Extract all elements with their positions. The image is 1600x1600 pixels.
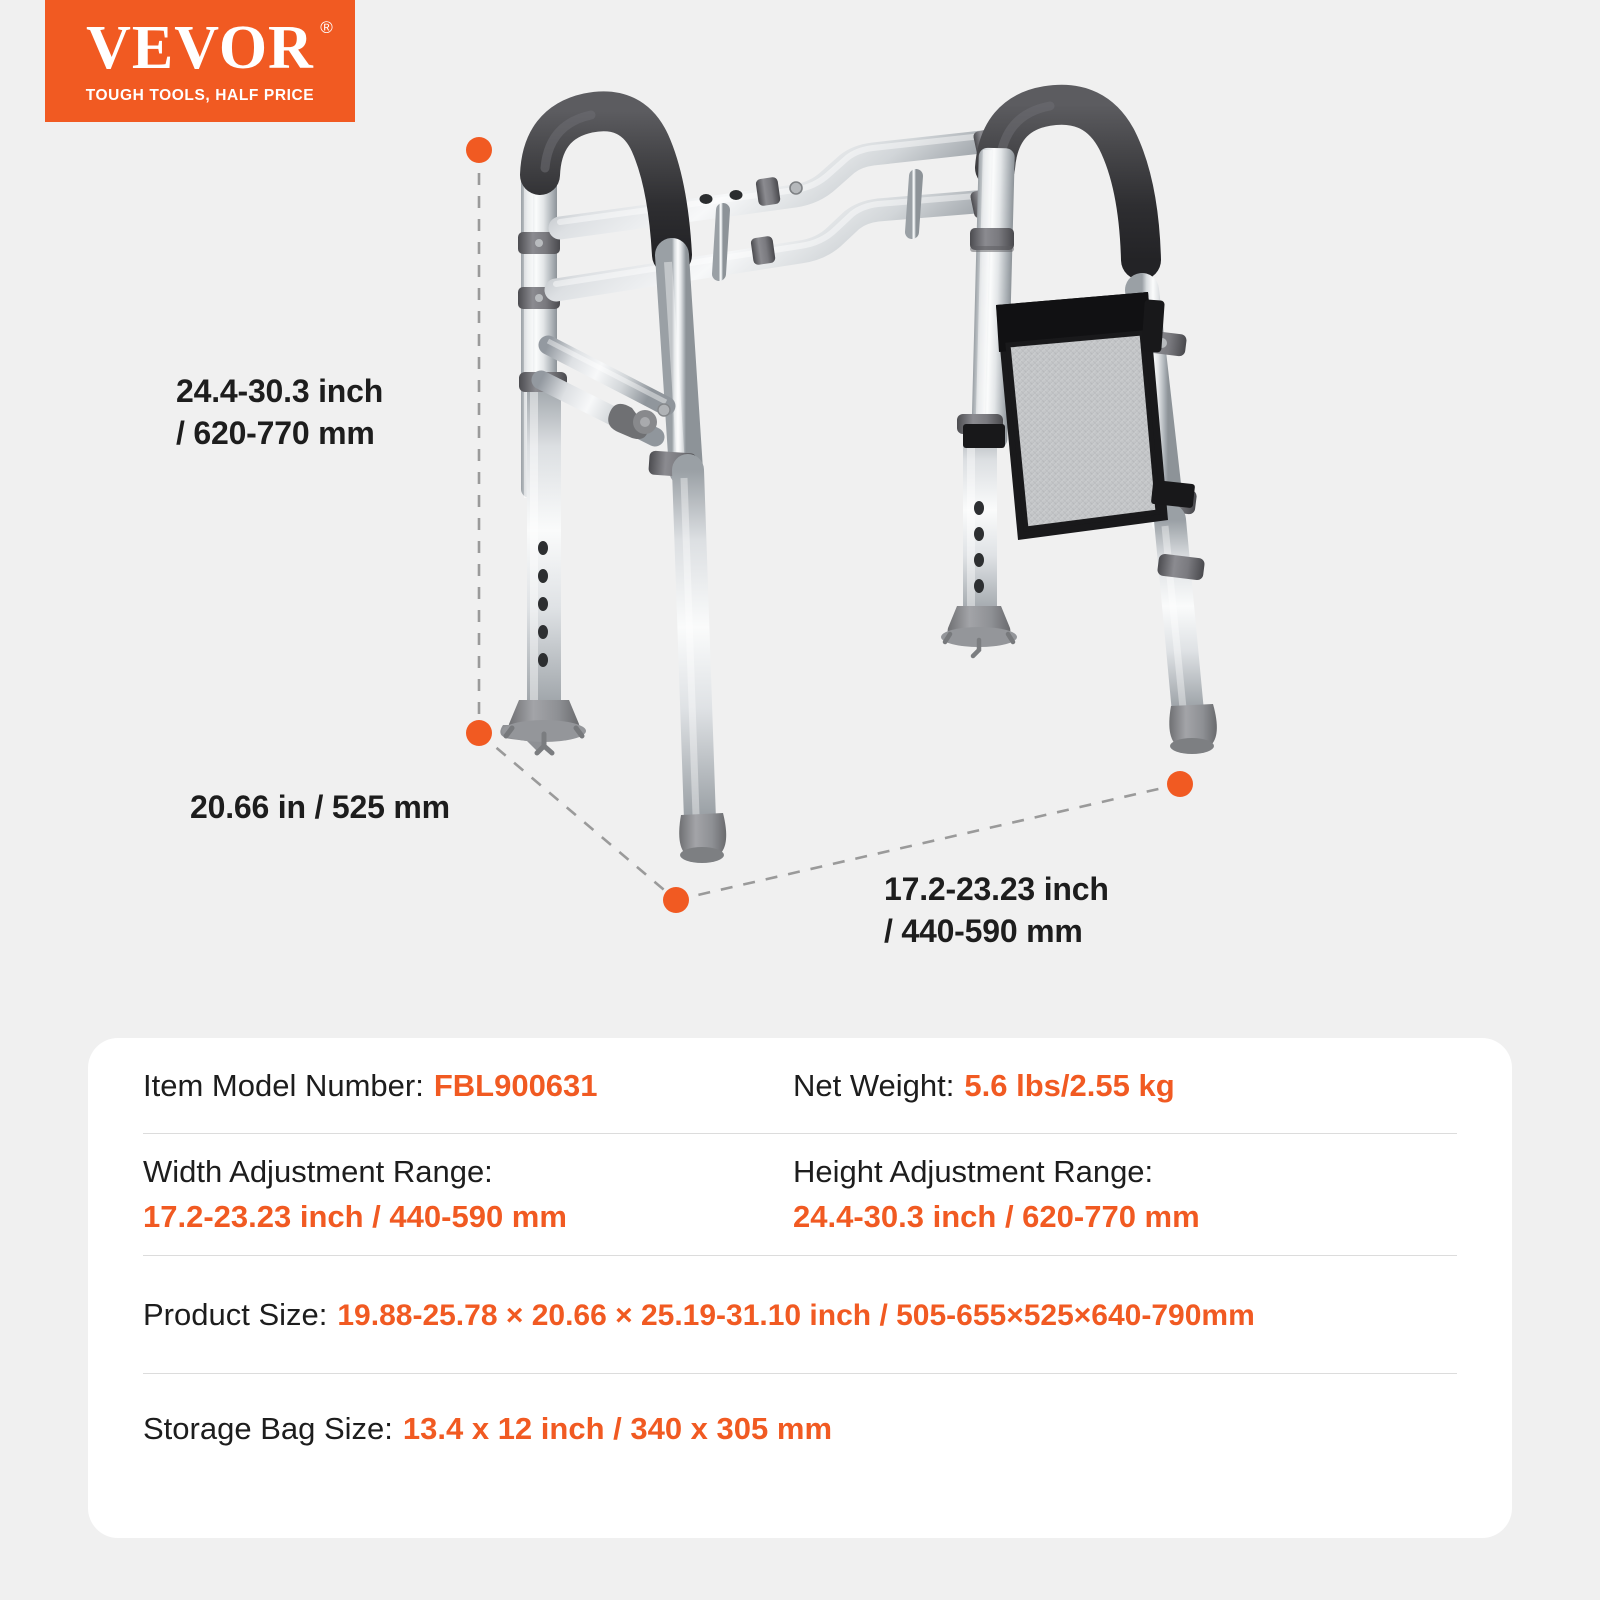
rear-left-leg (500, 168, 586, 753)
marker-top-left (466, 137, 492, 163)
upper-cross-frame (556, 128, 1000, 290)
marker-front-bottom (663, 887, 689, 913)
product-size-label: Product Size: (143, 1297, 327, 1333)
spec-row-bag-size: Storage Bag Size: 13.4 x 12 inch / 340 x… (143, 1374, 1457, 1484)
width-dimension-line1: 17.2-23.23 inch (884, 868, 1214, 910)
bag-mesh-panel (1008, 333, 1158, 529)
height-dimension-line2: / 620-770 mm (176, 412, 506, 454)
bag-size-label: Storage Bag Size: (143, 1411, 393, 1447)
width-dimension-line2: / 440-590 mm (884, 910, 1214, 952)
height-dimension-line1: 24.4-30.3 inch (176, 370, 506, 412)
marker-bottom-left (466, 720, 492, 746)
marker-right-bottom (1167, 771, 1193, 797)
rear-right-foot (941, 606, 1017, 656)
spec-item-height-range: Height Adjustment Range: 24.4-30.3 inch … (793, 1154, 1457, 1235)
width-range-label: Width Adjustment Range: (143, 1154, 793, 1190)
spec-row-product-size: Product Size: 19.88-25.78 × 20.66 × 25.1… (143, 1256, 1457, 1374)
model-label: Item Model Number: (143, 1068, 424, 1104)
product-illustration: 24.4-30.3 inch / 620-770 mm 20.66 in / 5… (0, 0, 1600, 1010)
walker-drawing (0, 0, 1600, 1010)
bag-right-strap (1151, 480, 1195, 508)
spec-row-adjustment-ranges: Width Adjustment Range: 17.2-23.23 inch … (143, 1134, 1457, 1256)
net-weight-value: 5.6 lbs/2.55 kg (964, 1068, 1174, 1104)
spec-item-net-weight: Net Weight: 5.6 lbs/2.55 kg (793, 1068, 1457, 1104)
net-weight-label: Net Weight: (793, 1068, 954, 1104)
spec-row-model-weight: Item Model Number: FBL900631 Net Weight:… (143, 1038, 1457, 1134)
infographic-page: VEVOR® TOUGH TOOLS, HALF PRICE (0, 0, 1600, 1600)
specifications-card: Item Model Number: FBL900631 Net Weight:… (88, 1038, 1512, 1538)
front-right-foot (1169, 704, 1217, 754)
rear-left-foot (500, 700, 586, 753)
width-range-value: 17.2-23.23 inch / 440-590 mm (143, 1199, 793, 1235)
spec-item-bag-size: Storage Bag Size: 13.4 x 12 inch / 340 x… (143, 1411, 832, 1447)
width-dimension-label: 17.2-23.23 inch / 440-590 mm (884, 868, 1214, 952)
front-left-foot (679, 813, 726, 863)
spec-item-width-range: Width Adjustment Range: 17.2-23.23 inch … (143, 1154, 793, 1235)
spec-item-model: Item Model Number: FBL900631 (143, 1068, 793, 1104)
bag-size-value: 13.4 x 12 inch / 340 x 305 mm (403, 1411, 832, 1447)
height-dimension-label: 24.4-30.3 inch / 620-770 mm (176, 370, 506, 454)
product-size-value: 19.88-25.78 × 20.66 × 25.19-31.10 inch /… (337, 1299, 1254, 1333)
model-value: FBL900631 (434, 1068, 598, 1104)
bag-left-strap (963, 424, 1005, 448)
height-range-label: Height Adjustment Range: (793, 1154, 1457, 1190)
spec-item-product-size: Product Size: 19.88-25.78 × 20.66 × 25.1… (143, 1297, 1255, 1333)
depth-dimension-label: 20.66 in / 525 mm (190, 786, 590, 828)
height-range-value: 24.4-30.3 inch / 620-770 mm (793, 1199, 1457, 1235)
